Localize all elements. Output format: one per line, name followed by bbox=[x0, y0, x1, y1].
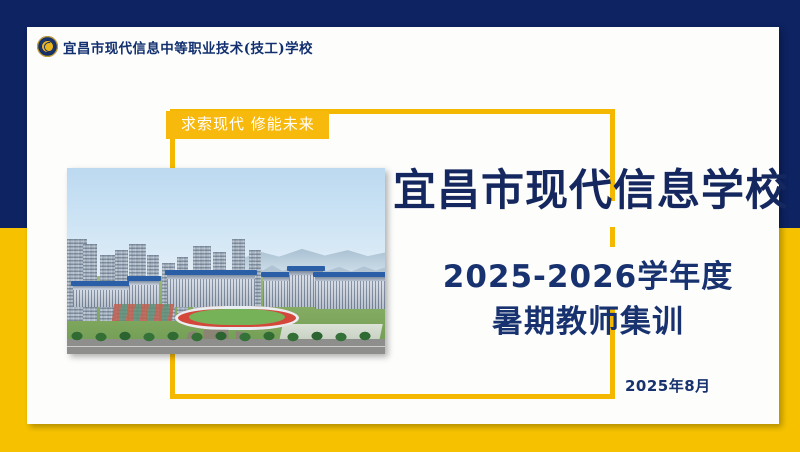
photo-sports-courts bbox=[112, 304, 174, 321]
presentation-slide: 宜昌市现代信息中等职业技术(技工)学校 求索现代 修能未来 bbox=[0, 0, 800, 452]
photo-tree-row bbox=[67, 328, 385, 348]
photo-sports-field bbox=[189, 309, 285, 325]
tagline-badge: 求索现代 修能未来 bbox=[166, 111, 329, 139]
photo-campus-building bbox=[167, 274, 255, 307]
frame-segment-right-middle bbox=[610, 227, 615, 247]
subtitle-academic-year: 2025-2026学年度 bbox=[443, 259, 733, 295]
school-logo-lockup: 宜昌市现代信息中等职业技术(技工)学校 bbox=[37, 36, 313, 57]
page-title: 宜昌市现代信息学校 bbox=[393, 168, 800, 214]
subtitle-event-name: 暑期教师集训 bbox=[393, 300, 783, 345]
frame-segment-bottom bbox=[170, 394, 615, 399]
slide-content-card: 宜昌市现代信息中等职业技术(技工)学校 求索现代 修能未来 bbox=[27, 27, 779, 424]
school-crest-icon bbox=[37, 36, 58, 57]
campus-photo bbox=[67, 168, 385, 354]
school-full-name: 宜昌市现代信息中等职业技术(技工)学校 bbox=[63, 37, 313, 57]
slide-date: 2025年8月 bbox=[625, 375, 711, 396]
photo-campus-building bbox=[315, 276, 385, 309]
subtitle-block: 2025-2026学年度 暑期教师集训 bbox=[393, 255, 783, 345]
